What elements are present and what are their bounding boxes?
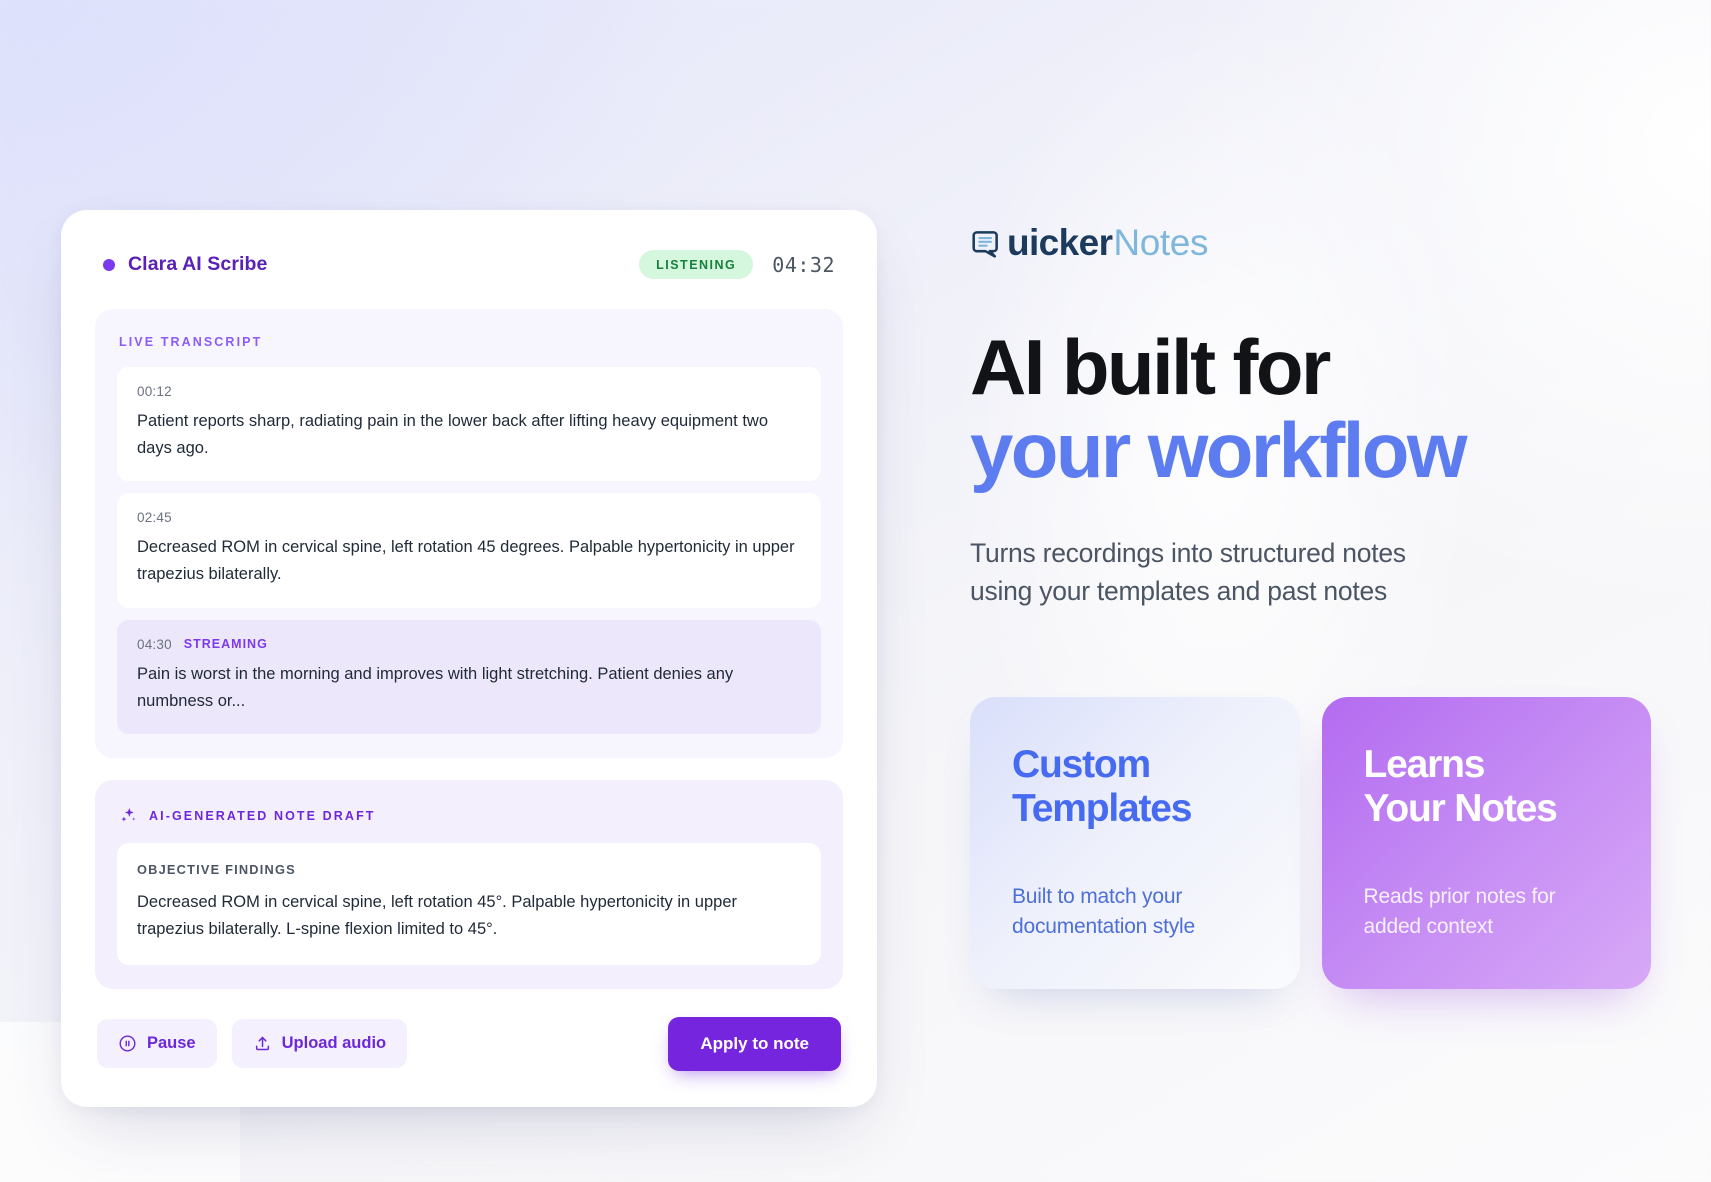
live-transcript-label: LIVE TRANSCRIPT xyxy=(119,335,821,349)
action-bar: Pause Upload audio Apply to note xyxy=(95,1017,843,1071)
live-transcript-panel: LIVE TRANSCRIPT 00:12 Patient reports sh… xyxy=(95,309,843,758)
feature-card-title: Learns Your Notes xyxy=(1364,743,1610,831)
recording-dot-icon xyxy=(103,259,115,271)
subheadline-line-2: using your templates and past notes xyxy=(970,576,1387,606)
feature-card-title-line-2: Templates xyxy=(1012,787,1191,830)
ai-note-draft-panel: AI-GENERATED NOTE DRAFT OBJECTIVE FINDIN… xyxy=(95,780,843,988)
streaming-tag: STREAMING xyxy=(184,637,268,651)
headline-line-1: AI built for xyxy=(970,323,1329,411)
ai-note-draft-header: AI-GENERATED NOTE DRAFT xyxy=(119,806,821,825)
apply-to-note-button[interactable]: Apply to note xyxy=(668,1017,841,1071)
feature-card-desc-line-2: added context xyxy=(1364,915,1493,938)
transcript-timestamp: 04:30 xyxy=(137,637,172,652)
marketing-panel: uicker Notes AI built for your workflow … xyxy=(900,0,1711,1182)
transcript-entry-meta: 02:45 xyxy=(137,510,801,525)
feature-card-row: Custom Templates Built to match your doc… xyxy=(970,697,1651,989)
note-section-text: Decreased ROM in cervical spine, left ro… xyxy=(137,889,801,942)
feature-card-learns-your-notes[interactable]: Learns Your Notes Reads prior notes for … xyxy=(1322,697,1652,989)
brand-logo: uicker Notes xyxy=(970,222,1651,264)
page-subheadline: Turns recordings into structured notes u… xyxy=(970,535,1510,610)
transcript-text: Patient reports sharp, radiating pain in… xyxy=(137,408,801,461)
transcript-text: Decreased ROM in cervical spine, left ro… xyxy=(137,534,801,587)
pause-button-label: Pause xyxy=(147,1034,196,1053)
transcript-entry-meta: 04:30 STREAMING xyxy=(137,637,801,652)
transcript-entry-meta: 00:12 xyxy=(137,384,801,399)
transcript-entry[interactable]: 00:12 Patient reports sharp, radiating p… xyxy=(117,367,821,481)
feature-card-title-line-1: Custom xyxy=(1012,743,1150,786)
feature-card-title-line-2: Your Notes xyxy=(1364,787,1557,830)
transcript-entry[interactable]: 02:45 Decreased ROM in cervical spine, l… xyxy=(117,493,821,607)
document-bubble-icon xyxy=(970,226,1005,261)
pause-circle-icon xyxy=(118,1034,137,1053)
feature-card-description: Built to match your documentation style xyxy=(1012,882,1258,942)
pause-button[interactable]: Pause xyxy=(97,1019,217,1068)
scribe-app-card: Clara AI Scribe LISTENING 04:32 LIVE TRA… xyxy=(61,210,877,1107)
brand-name-primary: uicker xyxy=(1007,222,1112,264)
transcript-timestamp: 02:45 xyxy=(137,510,172,525)
recording-timer: 04:32 xyxy=(772,253,835,277)
feature-card-description: Reads prior notes for added context xyxy=(1364,882,1610,942)
app-title-group: Clara AI Scribe xyxy=(103,253,268,276)
left-panel: Clara AI Scribe LISTENING 04:32 LIVE TRA… xyxy=(0,0,900,1182)
brand-name-secondary: Notes xyxy=(1113,222,1208,264)
note-section-title: OBJECTIVE FINDINGS xyxy=(137,862,801,877)
sparkle-icon xyxy=(119,806,138,825)
app-title: Clara AI Scribe xyxy=(128,253,268,276)
feature-card-desc-line-1: Reads prior notes for xyxy=(1364,885,1556,908)
page-root: Clara AI Scribe LISTENING 04:32 LIVE TRA… xyxy=(0,0,1711,1182)
transcript-timestamp: 00:12 xyxy=(137,384,172,399)
feature-card-desc-line-2: documentation style xyxy=(1012,915,1195,938)
ai-note-draft-label: AI-GENERATED NOTE DRAFT xyxy=(149,809,376,823)
app-header-right: LISTENING 04:32 xyxy=(639,250,835,279)
upload-audio-button-label: Upload audio xyxy=(282,1034,387,1053)
upload-audio-button[interactable]: Upload audio xyxy=(232,1019,408,1068)
ai-note-draft-body[interactable]: OBJECTIVE FINDINGS Decreased ROM in cerv… xyxy=(117,843,821,964)
app-header: Clara AI Scribe LISTENING 04:32 xyxy=(95,244,843,279)
transcript-entry-streaming[interactable]: 04:30 STREAMING Pain is worst in the mor… xyxy=(117,620,821,734)
feature-card-title-line-1: Learns xyxy=(1364,743,1485,786)
feature-card-title: Custom Templates xyxy=(1012,743,1258,831)
feature-card-desc-line-1: Built to match your xyxy=(1012,885,1182,908)
feature-card-custom-templates[interactable]: Custom Templates Built to match your doc… xyxy=(970,697,1300,989)
status-badge: LISTENING xyxy=(639,250,753,279)
upload-icon xyxy=(253,1034,272,1053)
subheadline-line-1: Turns recordings into structured notes xyxy=(970,538,1406,568)
page-headline: AI built for your workflow xyxy=(970,326,1651,491)
transcript-text: Pain is worst in the morning and improve… xyxy=(137,661,801,714)
headline-line-2: your workflow xyxy=(970,409,1651,492)
